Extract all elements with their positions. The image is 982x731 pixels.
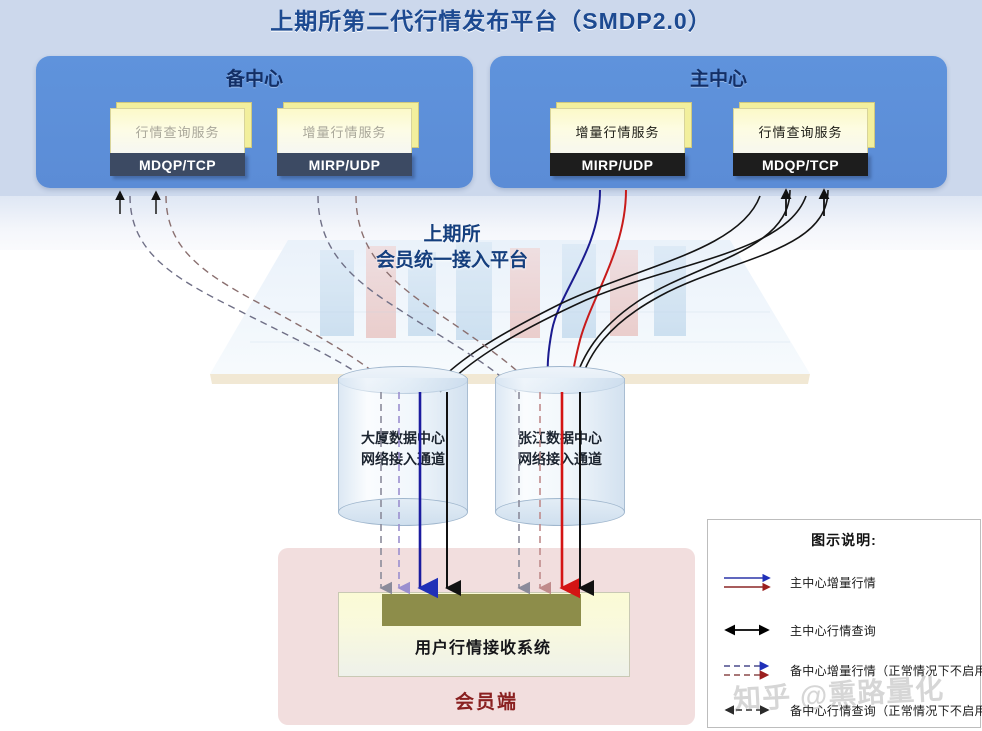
platform-label-line2: 会员统一接入平台	[352, 248, 552, 274]
page-title: 上期所第二代行情发布平台（SMDP2.0）	[0, 2, 982, 36]
service-protocol-bar: MIRP/UDP	[550, 153, 685, 176]
main-center-title: 主中心	[490, 64, 947, 91]
legend-item-backup-incremental: 备中心增量行情（正常情况下不启用）	[722, 658, 978, 684]
backup-center-title: 备中心	[36, 64, 473, 91]
dashed-double-headed-arrow-icon	[722, 698, 780, 724]
cylinder-bottom	[338, 498, 468, 526]
channel-label-line1: 大厦数据中心	[338, 428, 468, 449]
service-protocol: MDQP/TCP	[139, 157, 216, 173]
channel-cylinder-right: 张江数据中心 网络接入通道	[495, 366, 625, 526]
channel-label-line1: 张江数据中心	[495, 428, 625, 449]
channel-label-line2: 网络接入通道	[495, 449, 625, 470]
user-receiver-olive-band	[382, 594, 581, 626]
double-dashed-arrow-right-icon	[722, 658, 780, 684]
legend-item-main-query: 主中心行情查询	[722, 618, 978, 644]
legend-label: 备中心增量行情（正常情况下不启用）	[790, 662, 982, 679]
cylinder-bottom	[495, 498, 625, 526]
service-protocol: MDQP/TCP	[762, 157, 839, 173]
service-card-face: 行情查询服务	[733, 108, 868, 154]
service-protocol-bar: MIRP/UDP	[277, 153, 412, 176]
service-name: 行情查询服务	[758, 122, 842, 141]
legend-item-main-incremental: 主中心增量行情	[722, 570, 978, 596]
user-receiver-label: 用户行情接收系统	[338, 634, 628, 658]
legend-label: 主中心增量行情	[790, 574, 876, 591]
legend-label: 备中心行情查询（正常情况下不启用）	[790, 702, 982, 719]
platform-label-line1: 上期所	[352, 222, 552, 248]
channel-label-left: 大厦数据中心 网络接入通道	[338, 428, 468, 470]
service-protocol-bar: MDQP/TCP	[733, 153, 868, 176]
platform-label: 上期所 会员统一接入平台	[352, 222, 552, 274]
service-card-face: 行情查询服务	[110, 108, 245, 154]
service-protocol: MIRP/UDP	[582, 157, 654, 173]
backup-center-panel: 备中心 行情查询服务 MDQP/TCP 增量行情服务 MIRP/UDP	[36, 56, 473, 188]
service-card-main-mdqp[interactable]: 行情查询服务 MDQP/TCP	[733, 108, 873, 174]
main-center-panel: 主中心 增量行情服务 MIRP/UDP 行情查询服务 MDQP/TCP	[490, 56, 947, 188]
legend-item-backup-query: 备中心行情查询（正常情况下不启用）	[722, 698, 978, 724]
double-solid-arrow-right-icon	[722, 570, 780, 596]
service-protocol-bar: MDQP/TCP	[110, 153, 245, 176]
member-panel-label: 会员端	[278, 687, 695, 714]
service-name: 行情查询服务	[135, 122, 219, 141]
solid-double-headed-arrow-icon	[722, 618, 780, 644]
service-name: 增量行情服务	[302, 122, 386, 141]
service-card-backup-mirp[interactable]: 增量行情服务 MIRP/UDP	[277, 108, 417, 174]
channel-cylinder-left: 大厦数据中心 网络接入通道	[338, 366, 468, 526]
legend-label: 主中心行情查询	[790, 622, 876, 639]
service-protocol: MIRP/UDP	[309, 157, 381, 173]
legend-title: 图示说明:	[708, 530, 980, 550]
diagram-root: 上期所第二代行情发布平台（SMDP2.0） 备中心 行情查询服务 MDQP/TC…	[0, 0, 982, 731]
service-card-main-mirp[interactable]: 增量行情服务 MIRP/UDP	[550, 108, 690, 174]
channel-label-right: 张江数据中心 网络接入通道	[495, 428, 625, 470]
channel-label-line2: 网络接入通道	[338, 449, 468, 470]
service-name: 增量行情服务	[575, 122, 659, 141]
service-card-backup-mdqp[interactable]: 行情查询服务 MDQP/TCP	[110, 108, 250, 174]
service-card-face: 增量行情服务	[550, 108, 685, 154]
service-card-face: 增量行情服务	[277, 108, 412, 154]
legend-box: 图示说明: 主中心增量行情	[707, 519, 981, 728]
